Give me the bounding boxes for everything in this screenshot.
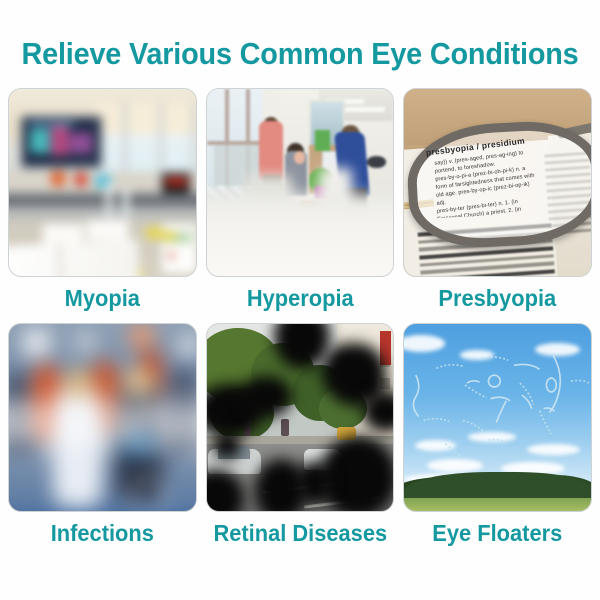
grid-row-2: Infections bbox=[8, 323, 592, 547]
lab-bench bbox=[8, 193, 197, 207]
light-halo bbox=[178, 334, 196, 356]
condition-card-eye-floaters[interactable]: Eye Floaters bbox=[403, 323, 592, 547]
scotoma-blind-spot bbox=[240, 376, 292, 417]
condition-grid: Myopia bbox=[8, 88, 592, 547]
pedestrian bbox=[281, 419, 288, 436]
open-book bbox=[8, 240, 140, 277]
street-ground bbox=[8, 453, 197, 512]
person-standing-coral bbox=[259, 121, 283, 181]
condition-image-hyperopia[interactable] bbox=[206, 88, 395, 277]
green-folder bbox=[315, 130, 330, 151]
condition-label-myopia: Myopia bbox=[13, 285, 192, 312]
condition-card-myopia[interactable]: Myopia bbox=[8, 88, 197, 312]
condition-label-presbyopia: Presbyopia bbox=[408, 285, 587, 312]
condition-label-eye-floaters: Eye Floaters bbox=[408, 520, 587, 547]
condition-label-infections: Infections bbox=[13, 520, 192, 547]
condition-image-eye-floaters[interactable] bbox=[403, 323, 592, 512]
scotoma-blind-spot bbox=[296, 462, 333, 503]
lab-item bbox=[50, 170, 66, 186]
window-mullion bbox=[123, 103, 127, 176]
pedestrian-head bbox=[64, 368, 93, 399]
glare-ring bbox=[125, 409, 171, 455]
floater-overlay bbox=[404, 324, 591, 511]
condition-card-hyperopia[interactable]: Hyperopia bbox=[206, 88, 395, 312]
condition-card-infections[interactable]: Infections bbox=[8, 323, 197, 547]
condition-image-myopia[interactable] bbox=[8, 88, 197, 277]
desk-lamp bbox=[367, 156, 386, 167]
condition-image-retinal-diseases[interactable] bbox=[206, 323, 395, 512]
window-mullion bbox=[159, 103, 163, 176]
wall-display-screen bbox=[21, 116, 102, 169]
light-halo bbox=[75, 332, 95, 352]
condition-label-retinal-diseases: Retinal Diseases bbox=[210, 520, 389, 547]
pedestrian-head bbox=[125, 366, 154, 397]
condition-label-hyperopia: Hyperopia bbox=[210, 285, 389, 312]
light-halo bbox=[129, 323, 154, 348]
light-halo bbox=[22, 328, 51, 357]
window bbox=[94, 103, 196, 176]
lab-item bbox=[74, 172, 88, 186]
condition-card-presbyopia[interactable]: presbyopia / presidium say)) v. (pres-ag… bbox=[403, 88, 592, 312]
window-mullion bbox=[192, 103, 196, 176]
scotoma-blind-spot bbox=[214, 432, 240, 458]
blurred-foreground-counter bbox=[206, 194, 395, 277]
lab-bench-lower bbox=[8, 207, 197, 219]
condition-image-infections[interactable] bbox=[8, 323, 197, 512]
equipment-box bbox=[86, 219, 129, 241]
condition-image-presbyopia[interactable]: presbyopia / presidium say)) v. (pres-ag… bbox=[403, 88, 592, 277]
condition-card-retinal-diseases[interactable]: Retinal Diseases bbox=[206, 323, 395, 547]
page-title: Relieve Various Common Eye Conditions bbox=[21, 36, 579, 72]
magnified-lens-text: presbyopia / presidium say)) v. (pres-ag… bbox=[419, 132, 572, 218]
infographic-page: Relieve Various Common Eye Conditions bbox=[0, 0, 600, 600]
grid-row-1: Myopia bbox=[8, 88, 592, 312]
glare-ring bbox=[129, 476, 168, 512]
